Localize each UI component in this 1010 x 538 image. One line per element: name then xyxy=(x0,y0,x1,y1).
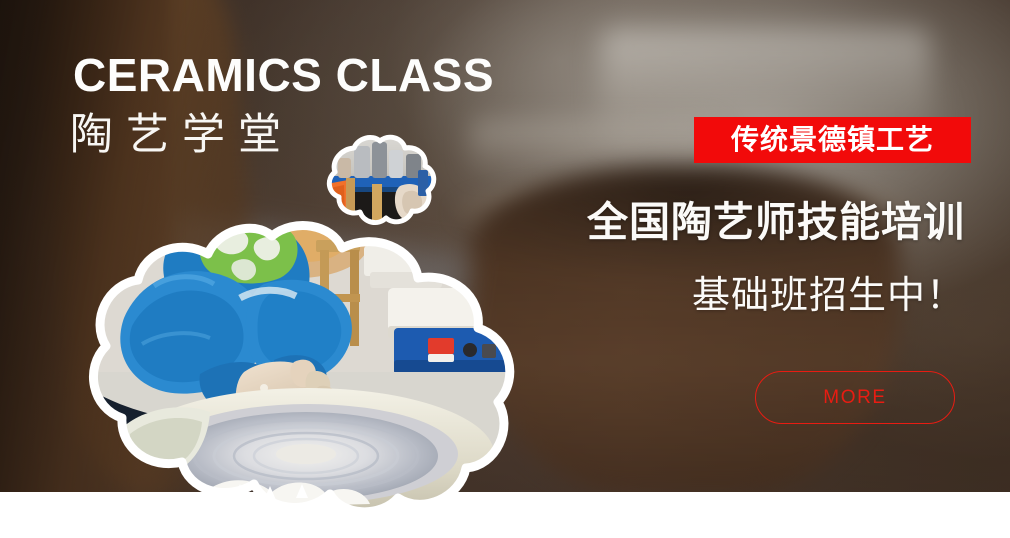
more-button-label: MORE xyxy=(823,388,886,407)
background-shelf-slabs-lower xyxy=(470,120,720,178)
cloud-photo-bubble-small xyxy=(314,132,442,228)
ceramics-class-banner: CERAMICS CLASS 陶艺学堂 xyxy=(0,0,1010,538)
page-title-chinese: 陶艺学堂 xyxy=(70,110,294,161)
cloud-photo-pottery-wheel xyxy=(58,222,538,512)
page-title-english: CERAMICS CLASS xyxy=(73,52,494,98)
promo-headline-secondary: 基础班招生中！ xyxy=(692,276,965,318)
craft-badge: 传统景德镇工艺 xyxy=(694,117,971,163)
promo-headline-primary: 全国陶艺师技能培训 xyxy=(587,200,965,245)
more-button[interactable]: MORE xyxy=(755,371,955,424)
craft-badge-label: 传统景德镇工艺 xyxy=(731,126,934,154)
